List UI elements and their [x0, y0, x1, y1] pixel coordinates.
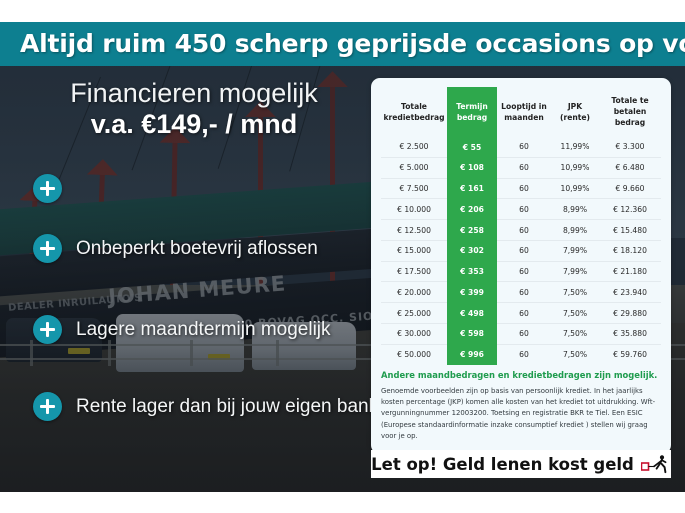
- cell-term: 60: [497, 157, 551, 178]
- afm-warning-strip: Let op! Geld lenen kost geld: [371, 450, 671, 478]
- cell-total-credit: € 50.000: [381, 344, 447, 364]
- cell-installment: € 302: [447, 240, 497, 261]
- cell-jkp: 8,99%: [551, 220, 599, 241]
- rates-table-body: € 2.500€ 556011,99%€ 3.300 € 5.000€ 1086…: [381, 137, 661, 365]
- rates-table: Totale kredietbedrag Termijn bedrag Loop…: [381, 87, 661, 365]
- cell-installment: € 399: [447, 282, 497, 303]
- cell-jkp: 7,50%: [551, 344, 599, 364]
- cell-total-credit: € 30.000: [381, 324, 447, 345]
- benefit-item: Lagere maandtermijn mogelijk: [33, 315, 331, 344]
- plus-icon: [33, 174, 62, 203]
- table-row: € 10.000€ 206608,99%€ 12.360: [381, 199, 661, 220]
- disclaimer-heading: Andere maandbedragen en kredietbedragen …: [381, 370, 663, 380]
- table-row: € 5.000€ 1086010,99%€ 6.480: [381, 157, 661, 178]
- benefit-label: Rente lager dan bij jouw eigen bank: [76, 396, 378, 418]
- table-row: € 25.000€ 498607,50%€ 29.880: [381, 303, 661, 324]
- headline-banner: Altijd ruim 450 scherp geprijsde occasio…: [0, 22, 685, 66]
- financing-hero: Financieren mogelijk v.a. €149,- / mnd: [24, 78, 364, 141]
- hero-line-1: Financieren mogelijk: [24, 78, 364, 108]
- col-header-jkp: JPK (rente): [551, 87, 599, 137]
- cell-jkp: 10,99%: [551, 157, 599, 178]
- col-header-total-payable: Totale te betalen bedrag: [599, 87, 661, 137]
- cell-jkp: 7,99%: [551, 240, 599, 261]
- cell-total-credit: € 15.000: [381, 240, 447, 261]
- cell-total-payable: € 6.480: [599, 157, 661, 178]
- cell-jkp: 8,99%: [551, 199, 599, 220]
- col-header-total-credit: Totale kredietbedrag: [381, 87, 447, 137]
- benefits-list: Financieren mogelijk v.a. €149,- / mnd O…: [0, 66, 368, 470]
- col-header-term: Looptijd in maanden: [497, 87, 551, 137]
- afm-warning-text: Let op! Geld lenen kost geld: [371, 455, 634, 474]
- table-header-row: Totale kredietbedrag Termijn bedrag Loop…: [381, 87, 661, 137]
- table-row: € 2.500€ 556011,99%€ 3.300: [381, 137, 661, 157]
- cell-installment: € 108: [447, 157, 497, 178]
- cell-total-payable: € 18.120: [599, 240, 661, 261]
- advertisement-banner: DEALER INRUILAUTO'S JOHAN MEURE ALTIJD 4…: [0, 0, 685, 513]
- cell-term: 60: [497, 178, 551, 199]
- table-row: € 30.000€ 598607,50%€ 35.880: [381, 324, 661, 345]
- plus-icon: [33, 315, 62, 344]
- cell-installment: € 55: [447, 137, 497, 157]
- cell-total-payable: € 9.660: [599, 178, 661, 199]
- cell-total-credit: € 10.000: [381, 199, 447, 220]
- cell-total-credit: € 12.500: [381, 220, 447, 241]
- cell-total-payable: € 12.360: [599, 199, 661, 220]
- cell-jkp: 11,99%: [551, 137, 599, 157]
- table-row: € 15.000€ 302607,99%€ 18.120: [381, 240, 661, 261]
- disclaimer-body: Genoemde voorbeelden zijn op basis van p…: [381, 386, 663, 442]
- cell-term: 60: [497, 199, 551, 220]
- col-header-installment: Termijn bedrag: [447, 87, 497, 137]
- hero-line-2: v.a. €149,- / mnd: [24, 108, 364, 140]
- cell-total-payable: € 3.300: [599, 137, 661, 157]
- cell-jkp: 7,50%: [551, 303, 599, 324]
- cell-total-payable: € 29.880: [599, 303, 661, 324]
- table-row: € 50.000€ 996607,50%€ 59.760: [381, 344, 661, 364]
- disclaimer-block: Andere maandbedragen en kredietbedragen …: [381, 370, 663, 442]
- cell-term: 60: [497, 303, 551, 324]
- plus-icon: [33, 392, 62, 421]
- cell-total-payable: € 23.940: [599, 282, 661, 303]
- page-title: Altijd ruim 450 scherp geprijsde occasio…: [20, 29, 685, 58]
- cell-total-credit: € 2.500: [381, 137, 447, 157]
- cell-installment: € 161: [447, 178, 497, 199]
- cell-term: 60: [497, 220, 551, 241]
- cell-total-credit: € 5.000: [381, 157, 447, 178]
- benefit-label: Lagere maandtermijn mogelijk: [76, 319, 331, 341]
- cell-total-payable: € 21.180: [599, 261, 661, 282]
- plus-icon: [33, 234, 62, 263]
- cell-total-credit: € 20.000: [381, 282, 447, 303]
- cell-term: 60: [497, 240, 551, 261]
- cell-total-credit: € 7.500: [381, 178, 447, 199]
- cell-term: 60: [497, 137, 551, 157]
- cell-term: 60: [497, 282, 551, 303]
- cell-total-payable: € 15.480: [599, 220, 661, 241]
- benefit-item: Rente lager dan bij jouw eigen bank: [33, 392, 378, 421]
- cell-jkp: 7,50%: [551, 324, 599, 345]
- rates-card: Totale kredietbedrag Termijn bedrag Loop…: [371, 78, 671, 454]
- table-row: € 12.500€ 258608,99%€ 15.480: [381, 220, 661, 241]
- cell-total-payable: € 35.880: [599, 324, 661, 345]
- benefit-label: Onbeperkt boetevrij aflossen: [76, 238, 318, 260]
- table-row: € 7.500€ 1616010,99%€ 9.660: [381, 178, 661, 199]
- cell-total-payable: € 59.760: [599, 344, 661, 364]
- cell-installment: € 206: [447, 199, 497, 220]
- afm-walking-person-icon: [641, 454, 671, 474]
- cell-jkp: 7,50%: [551, 282, 599, 303]
- cell-term: 60: [497, 344, 551, 364]
- cell-installment: € 996: [447, 344, 497, 364]
- cell-jkp: 10,99%: [551, 178, 599, 199]
- cell-installment: € 258: [447, 220, 497, 241]
- cell-installment: € 498: [447, 303, 497, 324]
- table-row: € 20.000€ 399607,50%€ 23.940: [381, 282, 661, 303]
- cell-total-credit: € 25.000: [381, 303, 447, 324]
- bottom-margin: [0, 492, 685, 513]
- benefit-item: Onbeperkt boetevrij aflossen: [33, 234, 318, 263]
- cell-term: 60: [497, 261, 551, 282]
- cell-installment: € 353: [447, 261, 497, 282]
- cell-term: 60: [497, 324, 551, 345]
- cell-total-credit: € 17.500: [381, 261, 447, 282]
- table-row: € 17.500€ 353607,99%€ 21.180: [381, 261, 661, 282]
- cell-installment: € 598: [447, 324, 497, 345]
- cell-jkp: 7,99%: [551, 261, 599, 282]
